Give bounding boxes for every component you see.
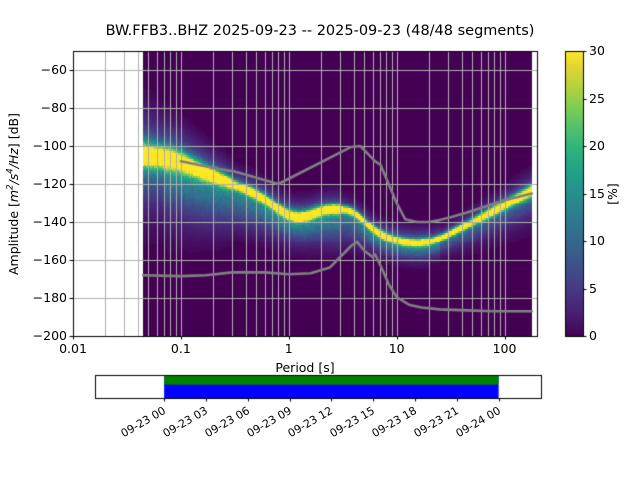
colorbar-tick-label: 20 xyxy=(589,140,605,153)
colorbar-tick-label: 30 xyxy=(589,45,605,58)
x-tick-label: 0.01 xyxy=(59,343,87,356)
y-tick-label: −140 xyxy=(33,216,67,229)
x-tick-label: 1 xyxy=(285,343,293,356)
page-title: BW.FFB3..BHZ 2025-09-23 -- 2025-09-23 (4… xyxy=(106,24,535,39)
y-tick-label: −120 xyxy=(33,178,67,191)
colorbar-tick-label: 25 xyxy=(589,92,605,105)
ppsd-figure: BW.FFB3..BHZ 2025-09-23 -- 2025-09-23 (4… xyxy=(0,0,640,480)
x-tick-label: 100 xyxy=(493,343,517,356)
colorbar-tick-label: 10 xyxy=(589,235,605,248)
y-tick-label: −160 xyxy=(33,254,67,267)
x-tick-label: 0.1 xyxy=(171,343,191,356)
y-tick-label: −100 xyxy=(33,140,67,153)
x-axis-label: Period [s] xyxy=(275,362,334,375)
y-axis-label: Amplitude [m2/s4/Hz] [dB] xyxy=(8,113,21,275)
colorbar-tick-label: 5 xyxy=(589,282,597,295)
y-tick-label: −180 xyxy=(33,292,67,305)
colorbar-tick-label: 15 xyxy=(589,187,605,200)
colorbar-tick-label: 0 xyxy=(589,330,597,343)
colorbar-label: [%] xyxy=(607,183,620,205)
y-tick-label: −80 xyxy=(41,102,67,115)
y-tick-label: −60 xyxy=(41,64,67,77)
x-tick-label: 10 xyxy=(389,343,405,356)
